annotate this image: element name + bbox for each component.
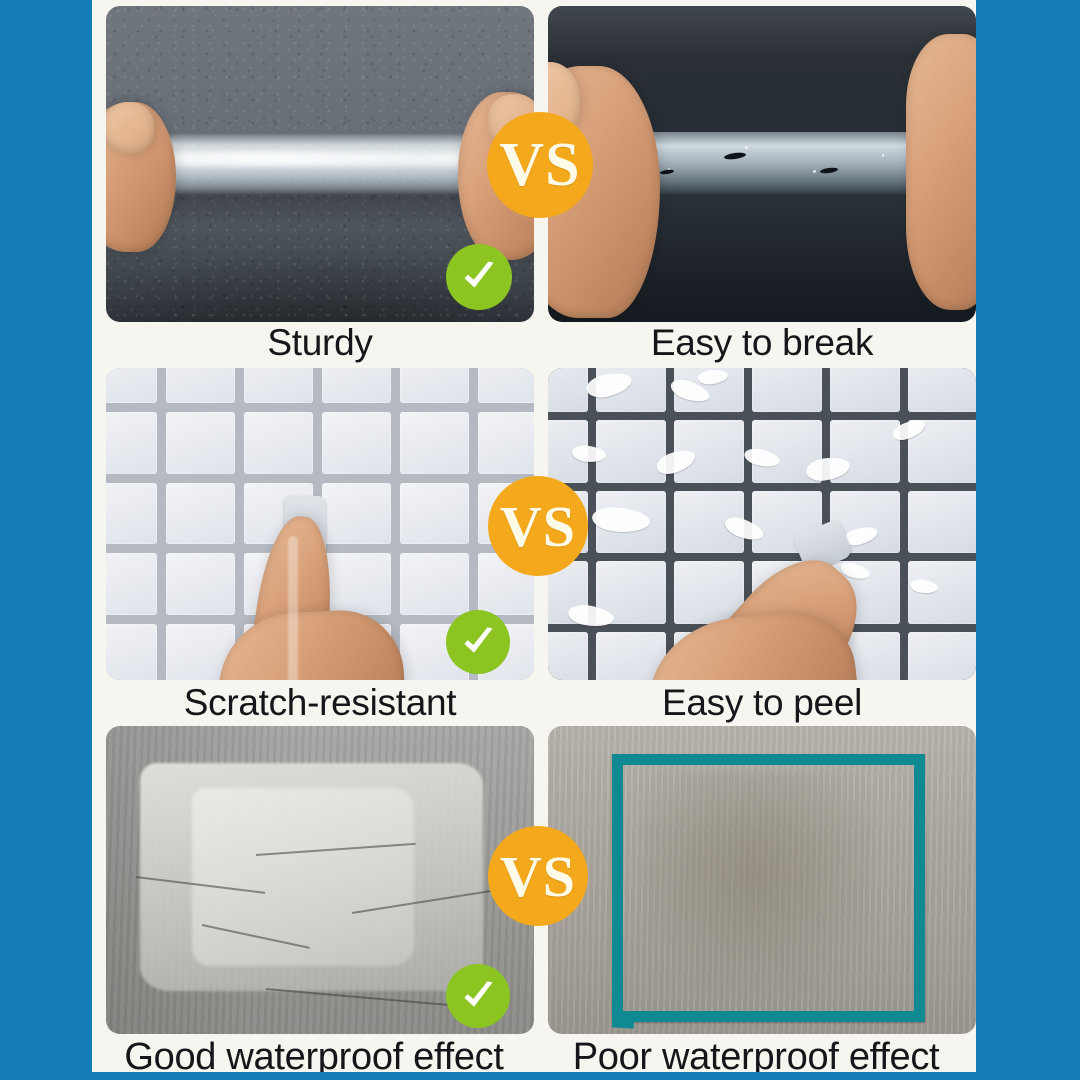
good-check-badge (446, 964, 510, 1028)
peeling-flake (567, 602, 616, 630)
right-hand (906, 34, 976, 310)
check-icon (458, 622, 499, 663)
caption-waterproof-good: Good waterproof effect (94, 1036, 534, 1072)
teal-tape-square (612, 754, 925, 1022)
peeling-flake (743, 446, 782, 470)
mosaic-tile (322, 483, 391, 544)
mosaic-tile (166, 412, 235, 473)
caption-scratch-bad: Easy to peel (548, 682, 976, 724)
mosaic-tile (244, 412, 313, 473)
peeling-flake (584, 369, 634, 400)
mosaic-tile (400, 483, 469, 544)
mosaic-tile (400, 553, 469, 614)
comparison-row-sturdy: VS Sturdy Easy to break (92, 0, 976, 364)
panel-waterproof-bad (548, 726, 976, 1034)
mosaic-tile (478, 368, 534, 403)
content-card: VS Sturdy Easy to break (92, 0, 976, 1072)
check-icon (458, 976, 499, 1017)
mosaic-tile (244, 368, 313, 403)
left-thumb (106, 102, 154, 154)
peeling-flake (722, 513, 766, 545)
mosaic-tile (322, 368, 391, 403)
mosaic-tile (478, 412, 534, 473)
peeling-flake (654, 446, 698, 477)
peeling-flake (909, 578, 939, 595)
mosaic-tile (322, 553, 391, 614)
mosaic-tile (400, 368, 469, 403)
vs-badge-row3: VS (488, 826, 588, 926)
good-check-badge (446, 244, 512, 310)
mosaic-tile (106, 412, 157, 473)
check-icon (458, 256, 500, 298)
peeling-flake (697, 369, 728, 386)
panel-sturdy-good (106, 6, 534, 322)
caption-scratch-good: Scratch-resistant (106, 682, 534, 724)
comparison-row-scratch: VS Scratch-resistant Easy to peel (92, 364, 976, 722)
mosaic-tile (106, 553, 157, 614)
mosaic-tile (106, 483, 157, 544)
photo-tape-stretch-break (548, 6, 976, 322)
vs-badge-row2: VS (488, 476, 588, 576)
mosaic-tile (400, 412, 469, 473)
finger-highlight (288, 536, 298, 680)
peeling-flake (571, 444, 607, 465)
caption-waterproof-bad: Poor waterproof effect (536, 1036, 976, 1072)
mosaic-tile (166, 368, 235, 403)
mosaic-tile (166, 483, 235, 544)
caption-sturdy-bad: Easy to break (548, 322, 976, 364)
peeling-flake (805, 455, 852, 483)
panel-scratch-good (106, 368, 534, 680)
peeling-flake (591, 505, 651, 535)
comparison-row-waterproof: VS Good waterproof effect Poor waterproo… (92, 722, 976, 1072)
peeling-flake (890, 417, 927, 444)
vs-badge-row1: VS (487, 112, 593, 218)
mosaic-tile (106, 624, 157, 680)
panel-waterproof-good (106, 726, 534, 1034)
waterproof-coating-core (192, 788, 415, 967)
photo-concrete-seepage (548, 726, 976, 1034)
mosaic-tile (106, 368, 157, 403)
comparison-infographic: VS Sturdy Easy to break (0, 0, 1080, 1080)
photo-tile-peeling (548, 368, 976, 680)
mosaic-tile (322, 412, 391, 473)
panel-scratch-bad (548, 368, 976, 680)
caption-sturdy-good: Sturdy (106, 322, 534, 364)
good-check-badge (446, 610, 510, 674)
panel-sturdy-bad (548, 6, 976, 322)
mosaic-tile (166, 553, 235, 614)
